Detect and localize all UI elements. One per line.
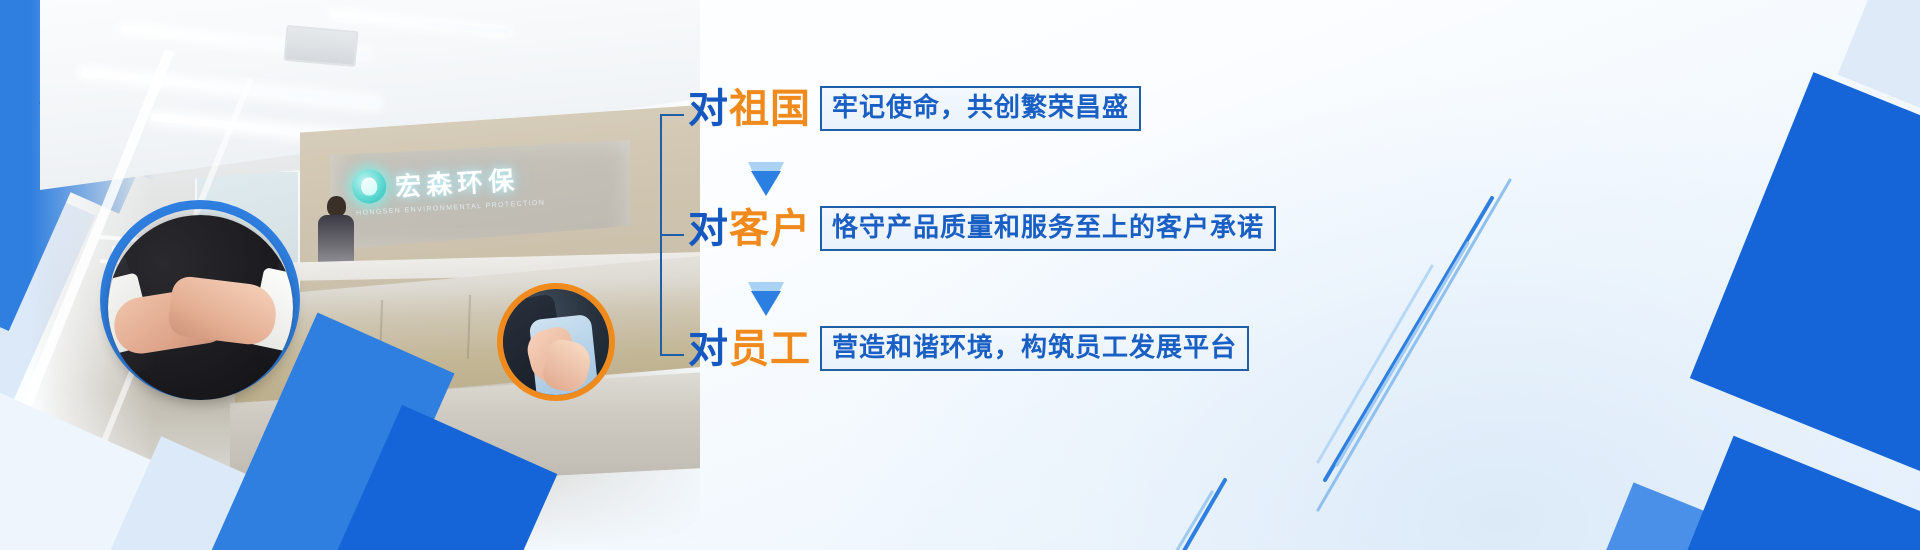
value-text-country: 牢记使命，共创繁荣昌盛 xyxy=(820,86,1141,131)
ceiling-vent xyxy=(284,25,359,67)
value-label-prefix: 对 xyxy=(688,86,729,132)
company-name-sign: 宏森环保 xyxy=(394,160,520,204)
company-values-banner: 宏森环保 HONGSEN ENVIRONMENTAL PROTECTION xyxy=(0,0,1920,550)
bracket-branch-1 xyxy=(660,114,684,116)
arrow-triangle xyxy=(751,171,781,196)
handshake-circle-photo xyxy=(108,215,293,400)
value-row-customer: 对客户 恪守产品质量和服务至上的客户承诺 xyxy=(688,206,1276,251)
value-label-target: 员工 xyxy=(729,326,811,372)
value-row-employee: 对员工 营造和谐环境，构筑员工发展平台 xyxy=(688,326,1249,371)
arrow-top-band xyxy=(748,162,784,171)
applause-circle-photo xyxy=(503,289,609,395)
value-label-target: 祖国 xyxy=(729,86,811,132)
arrow-triangle xyxy=(751,291,781,316)
value-label-customer: 对客户 xyxy=(688,209,811,249)
value-label-country: 对祖国 xyxy=(688,89,811,129)
decor-polygon-blue-right-1 xyxy=(1690,72,1920,498)
staff-head xyxy=(327,196,346,217)
value-label-employee: 对员工 xyxy=(688,329,811,369)
value-text-customer: 恪守产品质量和服务至上的客户承诺 xyxy=(820,206,1276,251)
value-label-prefix: 对 xyxy=(688,206,729,252)
staff-person xyxy=(318,196,354,268)
bracket-branch-2 xyxy=(660,234,684,236)
arrow-down-icon xyxy=(748,282,784,316)
value-label-target: 客户 xyxy=(729,206,811,252)
bracket-branch-3 xyxy=(660,354,684,356)
value-label-prefix: 对 xyxy=(688,326,729,372)
value-text-employee: 营造和谐环境，构筑员工发展平台 xyxy=(820,326,1249,371)
globe-leaf-icon xyxy=(351,169,387,205)
arrow-down-icon xyxy=(748,162,784,196)
arrow-top-band xyxy=(748,282,784,291)
value-row-country: 对祖国 牢记使命，共创繁荣昌盛 xyxy=(688,86,1141,131)
